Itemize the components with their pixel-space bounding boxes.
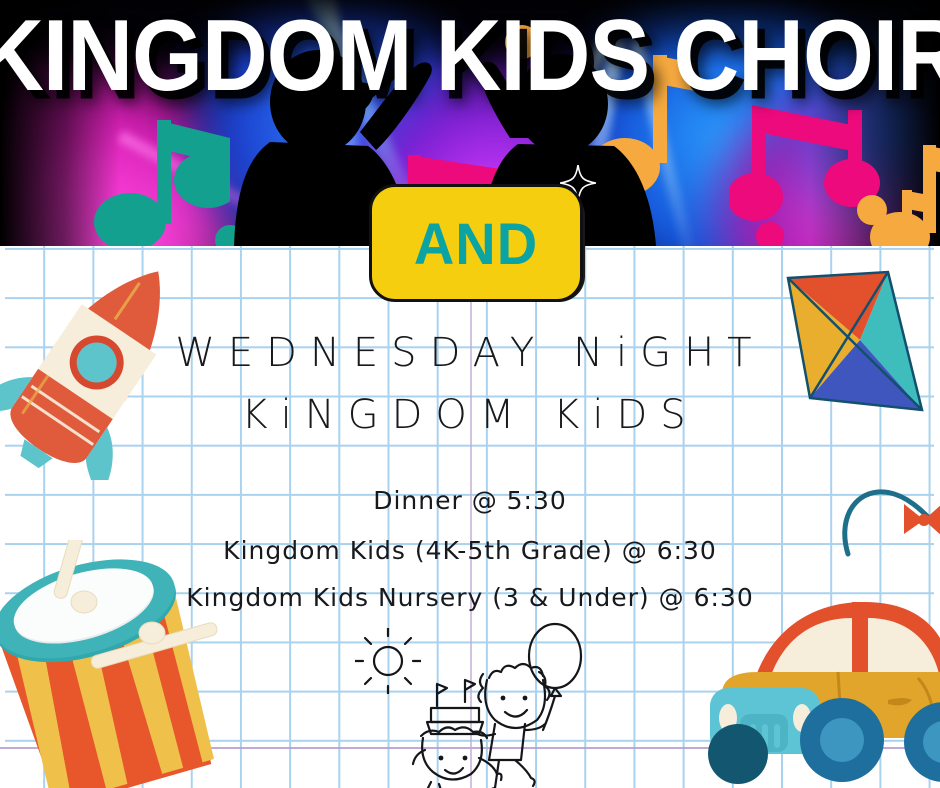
and-badge: AND bbox=[369, 184, 583, 302]
detail-line-dinner: Dinner @ 5:30 bbox=[0, 486, 940, 515]
poster: KINGDOM KIDS CHOIR AND WEDNESDAY NiGHT K… bbox=[0, 0, 940, 788]
music-note-dot-icon bbox=[752, 218, 788, 246]
and-badge-label: AND bbox=[414, 209, 538, 277]
kite-illustration bbox=[770, 250, 940, 440]
rocket-illustration bbox=[0, 250, 200, 480]
music-note-icon bbox=[90, 110, 230, 246]
car-illustration bbox=[692, 590, 940, 788]
drum-illustration bbox=[0, 540, 230, 788]
music-note-icon bbox=[884, 190, 934, 246]
kite-tail-illustration bbox=[832, 478, 940, 583]
page-title: KINGDOM KIDS CHOIR bbox=[0, 2, 940, 111]
girl-with-balloon-doodle-illustration bbox=[475, 620, 595, 788]
